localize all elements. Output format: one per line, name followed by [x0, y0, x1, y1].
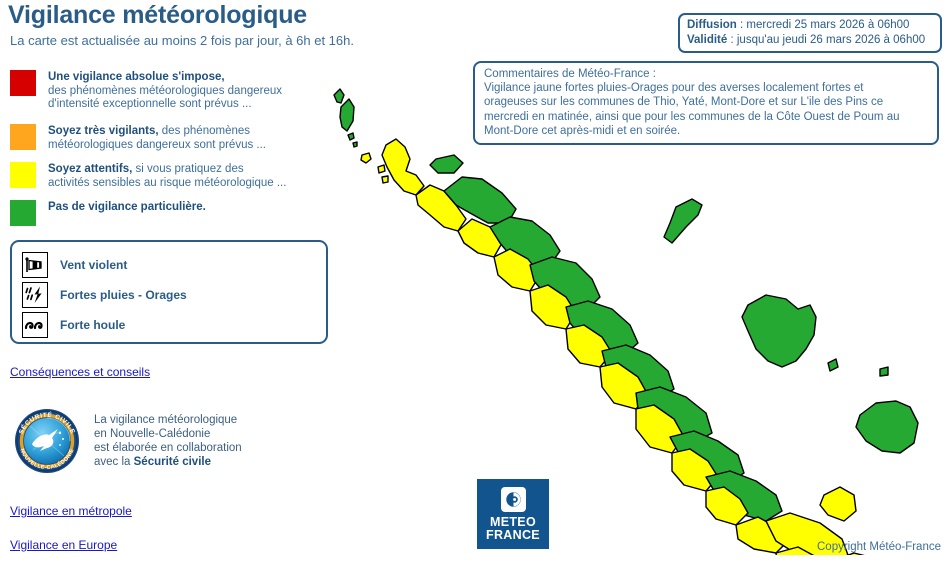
map-area-mare[interactable] — [856, 401, 918, 453]
legend-text-rouge: Une vigilance absolue s'impose, des phén… — [48, 70, 282, 112]
legend-rest2-rouge: d'intensité exceptionnelle sont prévus .… — [48, 98, 252, 110]
legend-swatch-orange — [10, 124, 36, 150]
phenomena-box: Vent violent Fortes pluies - Orages Fort… — [10, 240, 328, 344]
map-area-belep-islet2[interactable] — [353, 142, 357, 147]
map-area-belep[interactable] — [334, 89, 344, 103]
map-area-ouvea[interactable] — [664, 199, 702, 243]
meteo-france-word-line2: FRANCE — [486, 528, 540, 542]
diffusion-value: mercredi 25 mars 2026 à 06h00 — [746, 19, 909, 31]
securite-civile-block: SÉCURITÉ CIVILE NOUVELLE-CALÉDONIE La vi… — [8, 403, 242, 477]
legend-swatch-rouge — [10, 70, 36, 96]
map-area-poum-islet2[interactable] — [382, 176, 388, 183]
legend-bold-jaune: Soyez attentifs, — [48, 163, 132, 175]
legend-rest1-orange: des phénomènes — [159, 125, 250, 137]
map-area-tiga[interactable] — [828, 359, 838, 371]
map-area-poum[interactable] — [382, 139, 424, 195]
phenomenon-label-forte-houle: Forte houle — [60, 318, 125, 332]
legend-text-vert: Pas de vigilance particulière. — [48, 200, 206, 215]
legend-item-jaune: Soyez attentifs, si vous pratiquez des a… — [10, 162, 286, 190]
legend-item-rouge: Une vigilance absolue s'impose, des phén… — [10, 70, 282, 112]
phenomenon-row-vent-violent: Vent violent — [22, 250, 326, 279]
legend-text-jaune: Soyez attentifs, si vous pratiquez des a… — [48, 162, 286, 190]
legend-rest1-jaune: si vous pratiquez des — [132, 163, 243, 175]
page-title: Vigilance météorologique — [8, 1, 307, 30]
securite-civile-line2: en Nouvelle-Calédonie — [94, 428, 210, 440]
securite-civile-line1: La vigilance météorologique — [94, 414, 237, 426]
map-area-ile-des-pins[interactable] — [820, 487, 856, 521]
map-area-lifou[interactable] — [742, 295, 816, 367]
phenomenon-label-vent-violent: Vent violent — [60, 258, 127, 272]
legend-item-orange: Soyez très vigilants, des phénomènes mét… — [10, 124, 266, 152]
meteo-france-word-line1: METEO — [490, 515, 536, 529]
legend-item-vert: Pas de vigilance particulière. — [10, 200, 206, 226]
legend-rest2-orange: météorologiques dangereux sont prévus ..… — [48, 139, 266, 151]
validite-separator: : — [727, 34, 737, 46]
waves-icon — [22, 312, 48, 338]
meteo-france-logo: METEO FRANCE — [477, 479, 549, 549]
diffusion-label: Diffusion — [687, 19, 737, 31]
legend-bold-orange: Soyez très vigilants, — [48, 125, 159, 137]
page-subtitle: La carte est actualisée au moins 2 fois … — [10, 33, 354, 48]
rain-lightning-icon — [22, 282, 48, 308]
legend-text-orange: Soyez très vigilants, des phénomènes mét… — [48, 124, 266, 152]
validite-row: Validité : jusqu'au jeudi 26 mars 2026 à… — [687, 33, 933, 48]
link-vigilance-metropole[interactable]: Vigilance en métropole — [10, 504, 132, 518]
map-area-poum-islet[interactable] — [378, 165, 385, 173]
link-vigilance-europe[interactable]: Vigilance en Europe — [10, 538, 117, 552]
diffusion-row: Diffusion : mercredi 25 mars 2026 à 06h0… — [687, 18, 933, 33]
diffusion-separator: : — [737, 19, 747, 31]
map-area-belep-main[interactable] — [340, 99, 354, 131]
securite-civile-text: La vigilance météorologique en Nouvelle-… — [94, 403, 242, 469]
validite-label: Validité — [687, 34, 727, 46]
meteo-france-wordmark: METEO FRANCE — [486, 516, 540, 542]
legend-rest1-rouge: des phénomènes météorologiques dangereux — [48, 85, 282, 97]
legend-rest2-jaune: activités sensibles au risque météorolog… — [48, 177, 286, 189]
securite-civile-line4-prefix: avec la — [94, 456, 134, 468]
windsock-icon — [22, 252, 48, 278]
legend-swatch-jaune — [10, 162, 36, 188]
validite-value: jusqu'au jeudi 26 mars 2026 à 06h00 — [737, 34, 925, 46]
copyright-text: Copyright Météo-France — [817, 541, 941, 553]
map-area-tiga-islet[interactable] — [880, 367, 888, 376]
phenomenon-row-fortes-pluies-orages: Fortes pluies - Orages — [22, 280, 326, 309]
phenomenon-label-fortes-pluies-orages: Fortes pluies - Orages — [60, 288, 187, 302]
phenomenon-row-forte-houle: Forte houle — [22, 310, 326, 339]
securite-civile-logo-icon: SÉCURITÉ CIVILE NOUVELLE-CALÉDONIE — [8, 403, 86, 477]
bulletin-dates-box: Diffusion : mercredi 25 mars 2026 à 06h0… — [678, 13, 942, 53]
map-area-belep-islet[interactable] — [348, 133, 354, 140]
legend-bold-vert: Pas de vigilance particulière. — [48, 201, 206, 213]
legend-bold-rouge: Une vigilance absolue s'impose, — [48, 71, 225, 83]
map-area-ilot-nord-ouest[interactable] — [361, 153, 371, 163]
legend-swatch-vert — [10, 200, 36, 226]
vigilance-map[interactable] — [320, 55, 950, 555]
meteo-france-circle-icon — [501, 487, 526, 512]
map-area-ouegoa[interactable] — [430, 155, 463, 173]
securite-civile-line3: est élaborée en collaboration — [94, 442, 242, 454]
securite-civile-line4-bold: Sécurité civile — [134, 456, 211, 468]
link-consequences-et-conseils[interactable]: Conséquences et conseils — [10, 365, 150, 379]
